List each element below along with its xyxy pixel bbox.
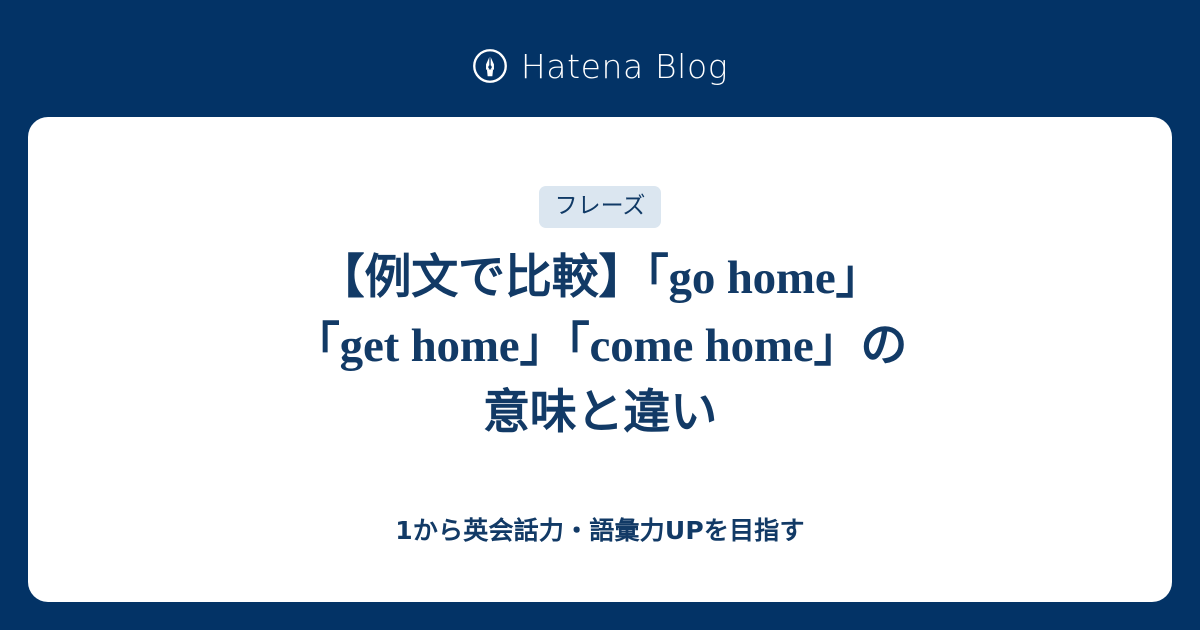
entry-title-line-1: 【例文で比較】「go home」 <box>100 245 1100 313</box>
ogp-card-root: Hatena Blog フレーズ 【例文で比較】「go home」 「get h… <box>0 0 1200 630</box>
brand-header: Hatena Blog <box>0 40 1200 92</box>
entry-title-line-3: 意味と違い <box>100 380 1100 448</box>
brand-name-label: Hatena Blog <box>521 50 728 83</box>
pen-nib-in-circle-icon <box>472 48 508 84</box>
blog-subtitle: 1から英会話力・語彙力UPを目指す <box>28 518 1172 543</box>
category-tag[interactable]: フレーズ <box>539 186 662 228</box>
entry-title-line-2: 「get home」「come home」の <box>100 313 1100 381</box>
entry-title: 【例文で比較】「go home」 「get home」「come home」の … <box>100 245 1100 448</box>
entry-card: フレーズ 【例文で比較】「go home」 「get home」「come ho… <box>28 117 1172 602</box>
